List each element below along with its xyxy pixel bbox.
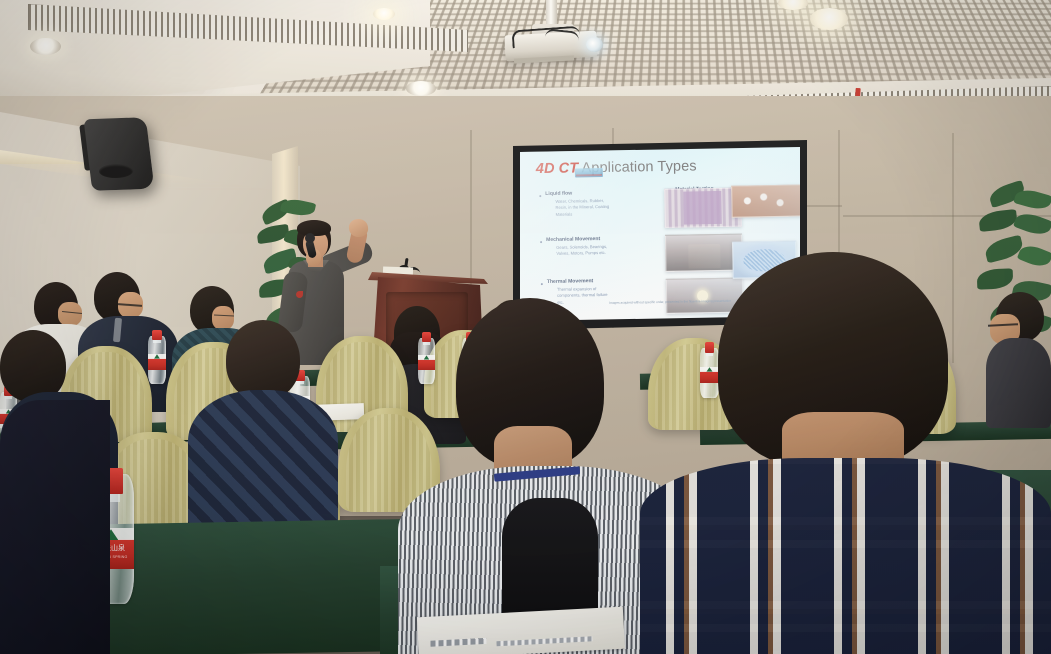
attendee-foreground-left [188,320,338,550]
presenter-shirt-logo-icon [296,291,303,298]
ceiling-dome-light [373,8,395,20]
slide-bullet-heading: Thermal Movement [547,278,594,285]
attendee-plaid-shirt [640,252,1051,654]
wall-speaker [84,117,155,191]
slide-bullet-left-1: Mechanical Movement Gears, Solenoids, Be… [546,236,612,258]
microphone-head-icon [305,233,315,243]
slide-title-red: 4D CT [536,160,579,177]
slide-thumbnail-material-testing [731,185,800,218]
conference-room-photo: 4D CT Application Types Liquid flow Wate… [0,0,1051,654]
slide-bullet-heading: Liquid flow [545,191,572,197]
slide-bullet-heading: Mechanical Movement [546,236,600,243]
slide-logo-icon [575,168,603,177]
attendee-bottom-left [0,400,110,654]
downlight-icon [30,38,61,55]
paper-text-line [430,638,486,647]
paper-text-line [496,636,592,646]
projector-mount-pole [546,0,557,27]
water-bottle [148,330,166,384]
ceiling-dome-light [810,8,848,30]
slide-bullet-detail: Gears, Solenoids, Bearings, Valves, Moto… [546,244,612,258]
slide-title: 4D CT Application Types [536,158,697,177]
slide-thumbnail-liquid-flow [664,188,742,228]
slide-bullet-left-0: Liquid flow Water, Chemicals, Rubber, Re… [545,190,611,218]
wall-panel-seam [470,130,472,300]
slide-bullet-detail: Water, Chemicals, Rubber, Resin, in the … [545,198,611,218]
presenter-hair [297,220,331,236]
downlight-icon [406,81,436,96]
